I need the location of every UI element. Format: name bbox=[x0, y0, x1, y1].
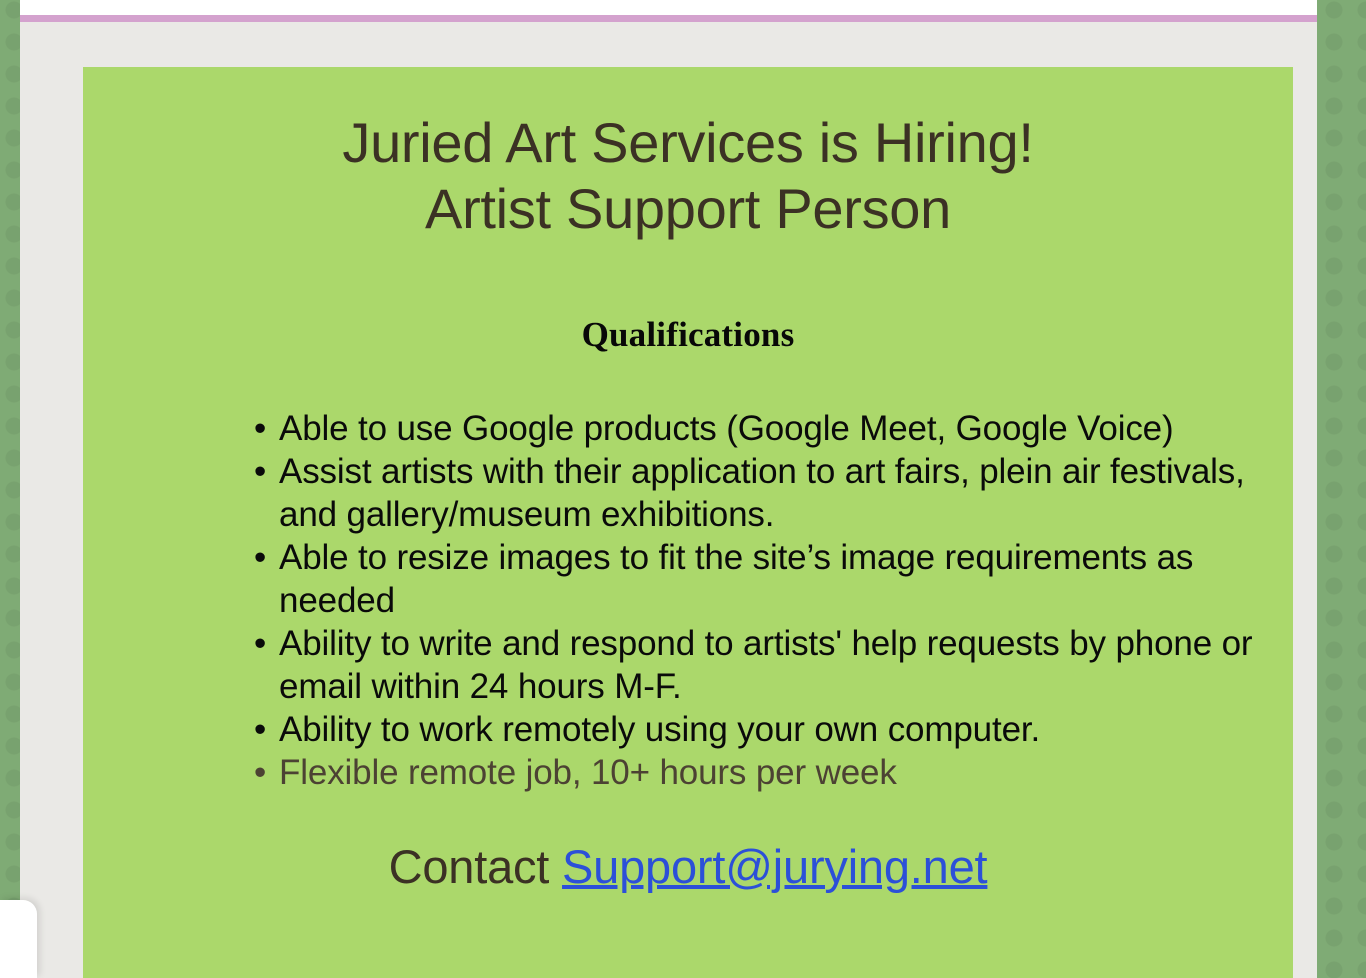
list-item-label: Able to use Google products (Google Meet… bbox=[279, 409, 1174, 448]
top-divider-rule bbox=[20, 15, 1317, 22]
contact-email-link[interactable]: Support@jurying.net bbox=[562, 840, 987, 893]
bullet-icon: • bbox=[250, 407, 270, 450]
page-top-whitespace bbox=[20, 0, 1317, 16]
list-item-label: Flexible remote job, 10+ hours per week bbox=[279, 753, 897, 792]
qualifications-list: • Able to use Google products (Google Me… bbox=[83, 355, 1293, 794]
left-pattern-strip bbox=[0, 0, 20, 978]
page-title-line-2: Artist Support Person bbox=[83, 176, 1293, 242]
bullet-icon: • bbox=[250, 450, 270, 493]
job-posting-card: Juried Art Services is Hiring! Artist Su… bbox=[83, 67, 1293, 978]
list-item-label: Assist artists with their application to… bbox=[279, 452, 1245, 534]
list-item-label: Able to resize images to fit the site’s … bbox=[279, 538, 1193, 620]
page-title-line-1: Juried Art Services is Hiring! bbox=[83, 110, 1293, 176]
bullet-icon: • bbox=[250, 751, 270, 794]
list-item: • Assist artists with their application … bbox=[83, 450, 1293, 536]
list-item: • Ability to write and respond to artist… bbox=[83, 622, 1293, 708]
bullet-icon: • bbox=[250, 708, 270, 751]
bullet-icon: • bbox=[250, 536, 270, 579]
list-item-label: Ability to work remotely using your own … bbox=[279, 710, 1040, 749]
list-item: • Ability to work remotely using your ow… bbox=[83, 708, 1293, 751]
page-root: Juried Art Services is Hiring! Artist Su… bbox=[0, 0, 1366, 978]
list-item-label: Ability to write and respond to artists'… bbox=[279, 624, 1252, 706]
right-pattern-strip bbox=[1317, 0, 1366, 978]
chat-widget-panel[interactable] bbox=[0, 900, 37, 978]
qualifications-heading: Qualifications bbox=[83, 242, 1293, 355]
contact-label: Contact bbox=[389, 840, 562, 893]
list-item: • Able to use Google products (Google Me… bbox=[83, 407, 1293, 450]
page-title: Juried Art Services is Hiring! Artist Su… bbox=[83, 67, 1293, 242]
list-item: • Flexible remote job, 10+ hours per wee… bbox=[83, 751, 1293, 794]
bullet-icon: • bbox=[250, 622, 270, 665]
list-item: • Able to resize images to fit the site’… bbox=[83, 536, 1293, 622]
content-panel: Juried Art Services is Hiring! Artist Su… bbox=[20, 22, 1317, 978]
contact-line: Contact Support@jurying.net bbox=[83, 794, 1293, 895]
